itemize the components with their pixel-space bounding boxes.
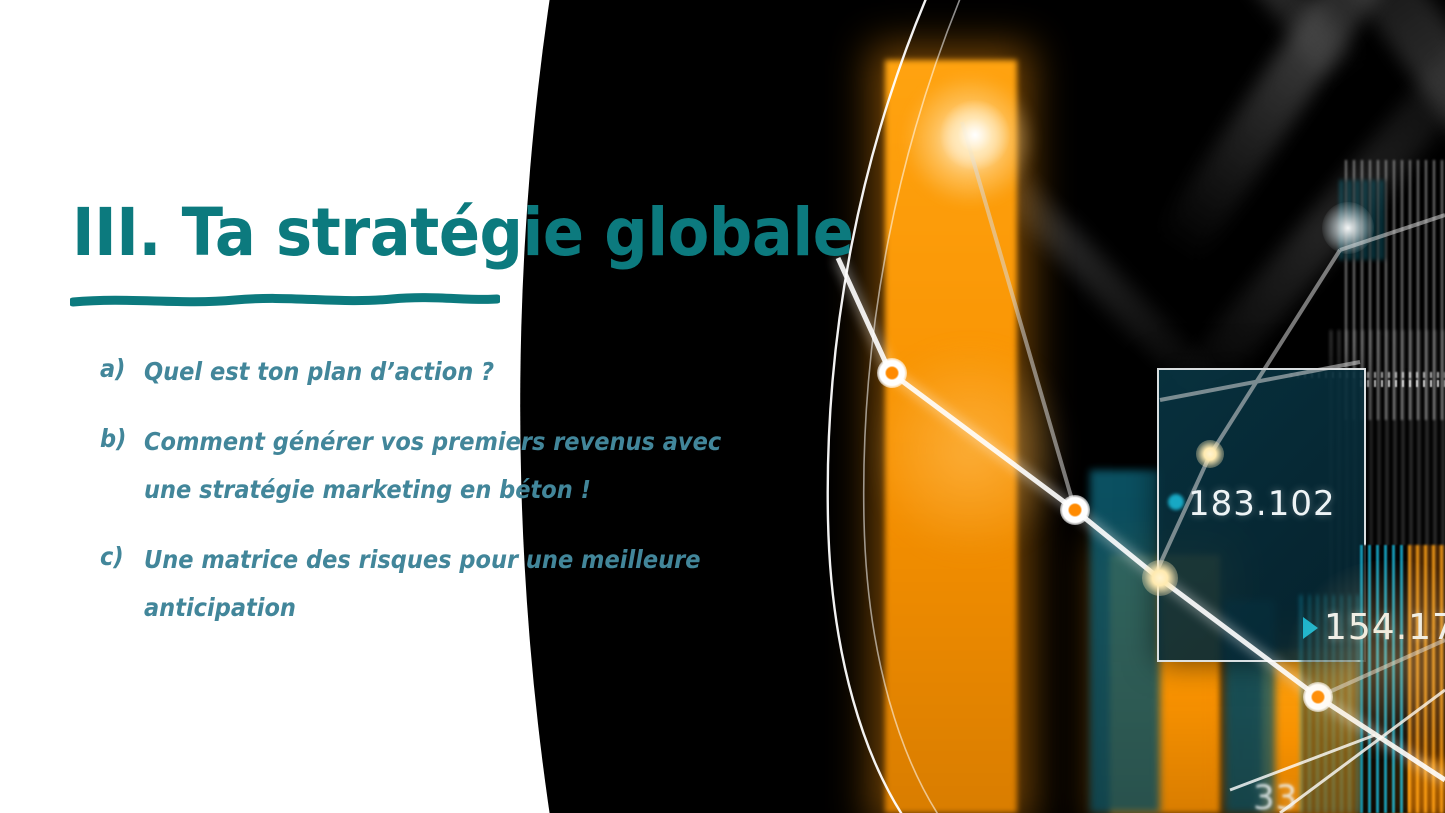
bullet-marker-a: a) (100, 348, 140, 390)
bullet-marker-c: c) (100, 536, 140, 578)
datum-label-183102: 183.102 (1188, 484, 1336, 524)
bullet-marker-b: b) (100, 418, 140, 460)
datum-marker-dot (1168, 494, 1184, 510)
bullet-text-c: Une matrice des risques pour une meilleu… (144, 536, 734, 632)
page-title: III. Ta stratégie globale (72, 196, 854, 270)
text-content-panel: III. Ta stratégie globale a) Quel est to… (0, 0, 830, 813)
bullet-text-a: Quel est ton plan d’action ? (144, 348, 734, 396)
chart-node-4 (1142, 560, 1178, 596)
bullet-list: a) Quel est ton plan d’action ? b) Comme… (100, 348, 800, 654)
chart-node-5 (1196, 440, 1224, 468)
list-item: a) Quel est ton plan d’action ? (100, 348, 800, 396)
list-item: c) Une matrice des risques pour une meil… (100, 536, 800, 632)
chart-node-2 (1060, 495, 1090, 525)
datum-label-154176: 154.176 (1324, 607, 1445, 648)
hand-drawn-wavy-rule (70, 288, 500, 314)
datum-label-33: 33 (1253, 778, 1298, 813)
slide-canvas: 183.102 154.176 33 III. Ta stratégie glo… (0, 0, 1445, 813)
bullet-text-b: Comment générer vos premiers revenus ave… (144, 418, 734, 514)
list-item: b) Comment générer vos premiers revenus … (100, 418, 800, 514)
chart-node-1 (877, 358, 907, 388)
datum-marker-triangle (1303, 617, 1318, 639)
chart-node-3 (1303, 682, 1333, 712)
